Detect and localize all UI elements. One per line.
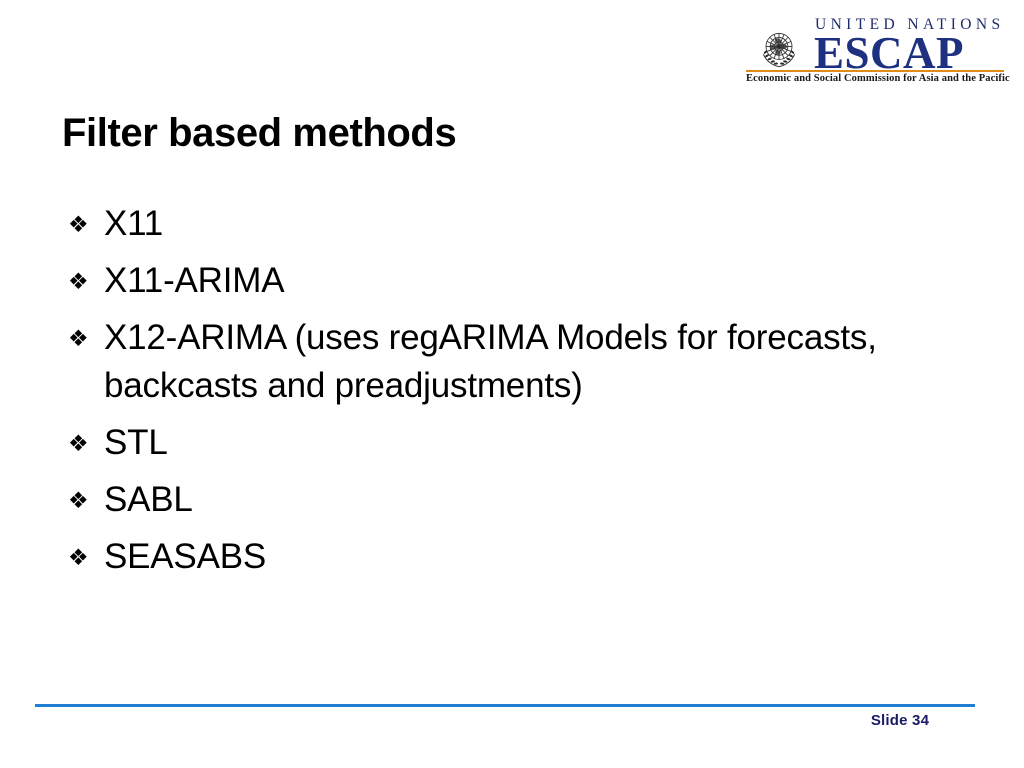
bullet-list: ❖ X11 ❖ X11-ARIMA ❖ X12-ARIMA (uses regA… — [64, 200, 954, 590]
list-item-label: X11 — [104, 200, 924, 248]
page-title: Filter based methods — [62, 109, 456, 157]
diamond-bullet-icon: ❖ — [64, 200, 104, 248]
slide-canvas: UNITED NATIONS ESCAP Economic and Social… — [0, 0, 1024, 768]
escap-divider — [746, 70, 1004, 72]
list-item-label: SABL — [104, 476, 924, 524]
list-item-label: STL — [104, 419, 924, 467]
diamond-bullet-icon: ❖ — [64, 314, 104, 362]
escap-acronym: ESCAP — [814, 33, 1004, 73]
list-item-label: SEASABS — [104, 533, 924, 581]
list-item: ❖ STL — [64, 419, 954, 467]
list-item: ❖ SABL — [64, 476, 954, 524]
footer-divider — [35, 704, 975, 707]
list-item-label: X11-ARIMA — [104, 257, 924, 305]
escap-tagline: Economic and Social Commission for Asia … — [746, 73, 1006, 84]
escap-logo: UNITED NATIONS ESCAP Economic and Social… — [748, 16, 1004, 94]
diamond-bullet-icon: ❖ — [64, 419, 104, 467]
list-item: ❖ X11-ARIMA — [64, 257, 954, 305]
diamond-bullet-icon: ❖ — [64, 257, 104, 305]
list-item: ❖ SEASABS — [64, 533, 954, 581]
slide-number: Slide 34 — [830, 712, 970, 729]
diamond-bullet-icon: ❖ — [64, 533, 104, 581]
list-item: ❖ X12-ARIMA (uses regARIMA Models for fo… — [64, 314, 954, 410]
un-emblem-icon — [748, 22, 810, 74]
diamond-bullet-icon: ❖ — [64, 476, 104, 524]
list-item: ❖ X11 — [64, 200, 954, 248]
list-item-label: X12-ARIMA (uses regARIMA Models for fore… — [104, 314, 934, 410]
escap-wordmark: UNITED NATIONS ESCAP — [814, 16, 1004, 73]
